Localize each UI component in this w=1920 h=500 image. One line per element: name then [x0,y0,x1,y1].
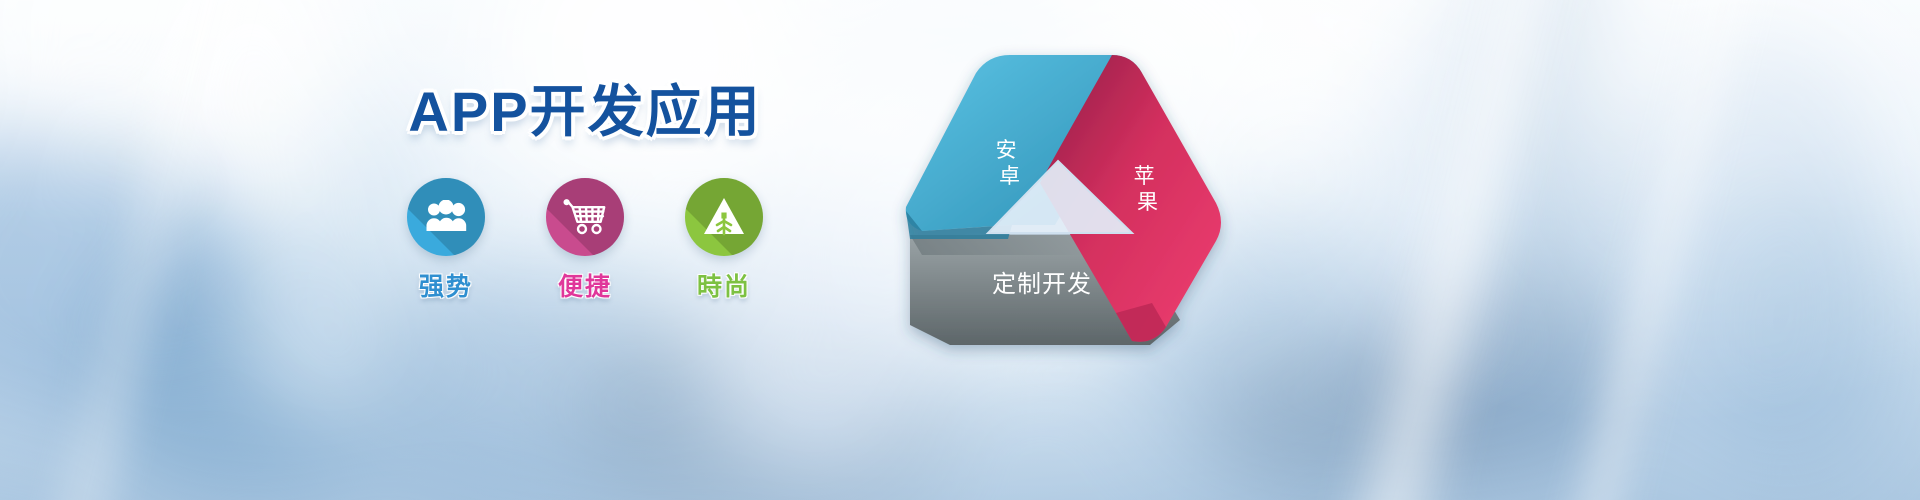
app-development-banner: APP开发应用 [0,0,1920,500]
feature-label: 强势 [419,272,473,302]
pine-tree-icon [701,196,747,238]
feature-list: 强势 [390,178,780,302]
ribbon-label-custom: 定制开发 [992,271,1092,298]
platform-ribbon-diagram: 安 卓 苹 果 定制开发 [880,35,1240,365]
feature-icon-circle [685,178,763,256]
feature-item-convenient[interactable]: 便捷 [529,178,641,302]
banner-left-content: APP开发应用 [390,78,780,378]
feature-label: 時尚 [697,272,751,302]
feature-label: 便捷 [558,272,612,302]
feature-icon-circle [546,178,624,256]
shopping-cart-icon [562,198,608,236]
feature-icon-circle [407,178,485,256]
page-title: APP开发应用 [390,78,780,148]
feature-item-fashion[interactable]: 時尚 [668,178,780,302]
people-group-icon [423,200,469,234]
feature-item-strong[interactable]: 强势 [390,178,502,302]
